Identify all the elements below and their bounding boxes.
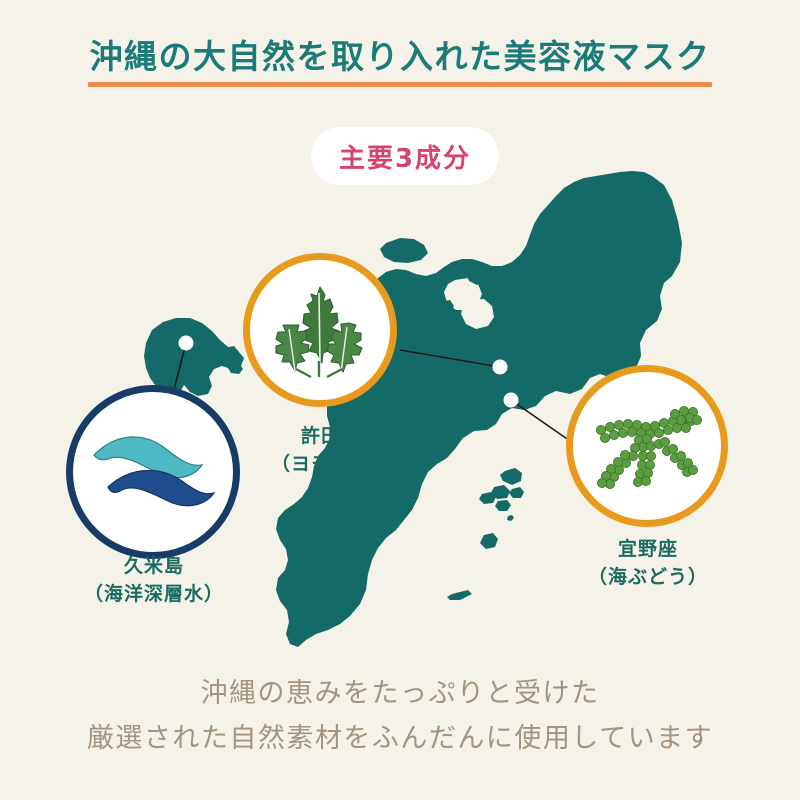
- infographic-canvas: 沖縄の大自然を取り入れた美容液マスク 主要3成分: [0, 0, 800, 800]
- sea-grapes-icon: [577, 376, 717, 516]
- footer-text: 沖縄の恵みをたっぷりと受けた 厳選された自然素材をふんだんに使用しています: [0, 672, 800, 761]
- footer-line-2: 厳選された自然素材をふんだんに使用しています: [0, 717, 800, 762]
- map-islet-east-a: [500, 468, 522, 485]
- caption-material-ginoza: （海ぶどう）: [562, 564, 734, 592]
- map-causeway: [436, 486, 488, 490]
- caption-kyoda: 許田 （ヨモギ）: [253, 423, 389, 478]
- caption-ginoza: 宜野座 （海ぶどう）: [562, 536, 734, 591]
- ingredient-circle-kyoda: [243, 253, 397, 407]
- map-islet-dot: [507, 515, 514, 521]
- map-islet-kudaka: [447, 590, 472, 600]
- caption-place-kumejima: 久米島: [124, 555, 184, 577]
- ingredient-circle-ginoza: [566, 365, 728, 527]
- mugwort-leaf-icon: [255, 265, 385, 395]
- caption-kumejima: 久米島 （海洋深層水）: [52, 553, 256, 608]
- caption-material-kumejima: （海洋深層水）: [52, 581, 256, 609]
- map-marker-ginoza: [504, 393, 519, 408]
- map-islet-tsuken: [480, 533, 498, 549]
- map-islet-east-e: [495, 500, 511, 511]
- map-marker-kyoda: [493, 360, 508, 375]
- caption-place-kyoda: 許田: [301, 425, 341, 447]
- sea-grape-strands: [596, 406, 701, 488]
- ingredient-circle-kumejima: [66, 385, 240, 559]
- map-islet-east-c: [509, 487, 524, 498]
- ocean-waves-icon: [78, 397, 228, 547]
- footer-line-1: 沖縄の恵みをたっぷりと受けた: [0, 672, 800, 717]
- caption-place-ginoza: 宜野座: [618, 538, 678, 560]
- caption-material-kyoda: （ヨモギ）: [253, 451, 389, 479]
- map-marker-kumejima: [179, 336, 194, 351]
- map-island-iejima: [380, 238, 428, 263]
